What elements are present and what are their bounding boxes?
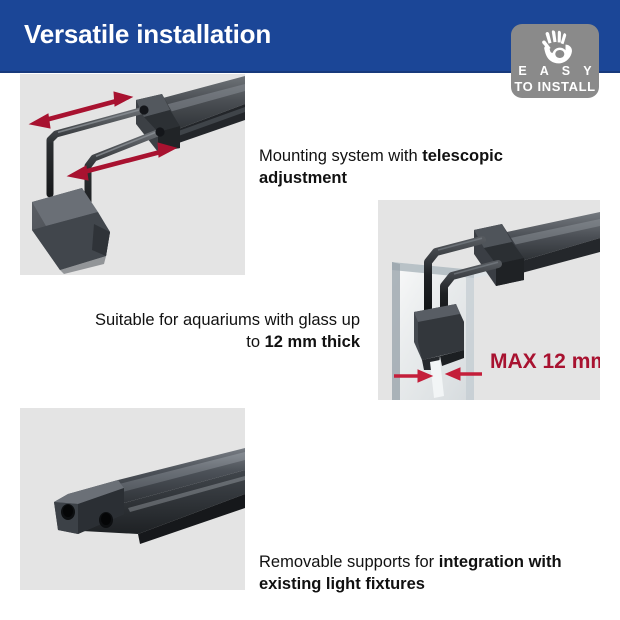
- caption-glass-bold: 12 mm thick: [265, 333, 360, 351]
- glass-thickness-illustration: MAX 12 mm: [378, 200, 600, 400]
- photo-telescopic-mount: [20, 74, 245, 275]
- caption-supports-plain: Removable supports for: [259, 553, 439, 571]
- caption-supports: Removable supports for integration with …: [259, 552, 604, 596]
- photo-removable-supports: [20, 408, 245, 590]
- extension-arrow-upper: [30, 92, 132, 128]
- badge-install-label: TO INSTALL: [511, 80, 599, 93]
- telescopic-mount-illustration: [20, 74, 245, 275]
- mounting-foot: [32, 188, 110, 274]
- caption-glass: Suitable for aquariums with glass up to …: [80, 310, 360, 354]
- badge-easy-label: E A S Y: [511, 65, 599, 78]
- page-title: Versatile installation: [24, 19, 271, 50]
- ok-hand-icon: [534, 29, 576, 65]
- photo-glass-thickness: MAX 12 mm: [378, 200, 600, 400]
- easy-to-install-badge: E A S Y TO INSTALL: [511, 24, 599, 98]
- caption-telescopic: Mounting system with telescopic adjustme…: [259, 146, 589, 190]
- max-thickness-label: MAX 12 mm: [490, 350, 600, 373]
- telescopic-rod-upper: [50, 105, 149, 194]
- endcap-illustration: [20, 408, 245, 590]
- caption-telescopic-plain: Mounting system with: [259, 147, 422, 165]
